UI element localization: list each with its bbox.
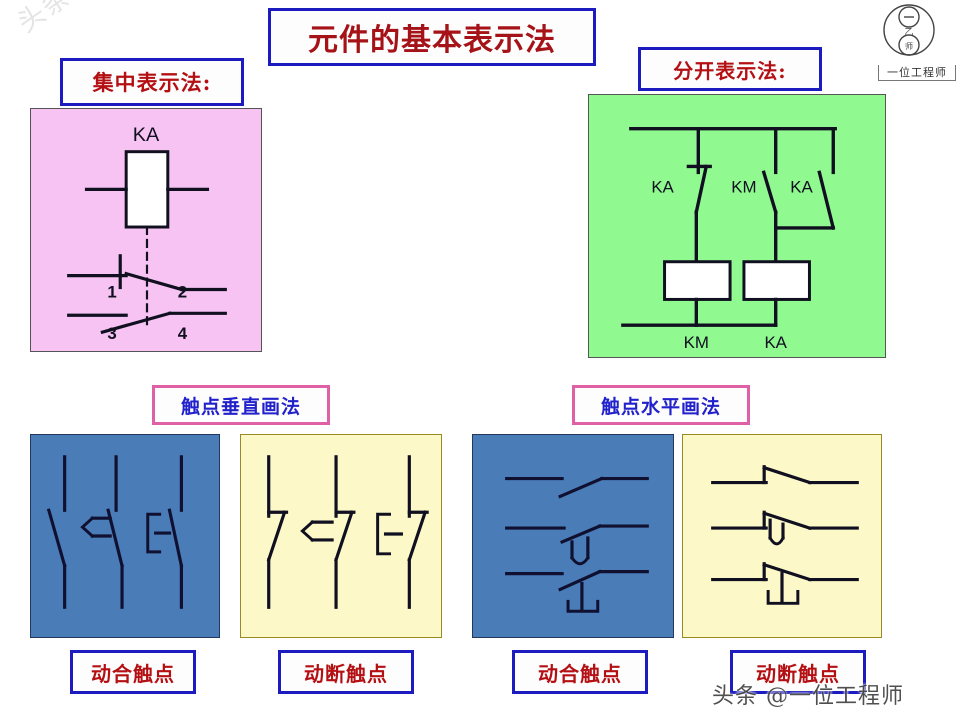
horizontal-no-contacts-panel bbox=[472, 434, 674, 638]
caption-nc-contact-horizontal: 动断触点 bbox=[730, 650, 866, 694]
vertical-no-contacts-svg bbox=[31, 435, 219, 637]
terminal-label-4: 4 bbox=[178, 324, 188, 343]
contact-label-ka-left: KA bbox=[651, 177, 674, 196]
vertical-nc-contacts-panel bbox=[240, 434, 442, 638]
separated-circuit-svg: KA KM KA KM KA bbox=[589, 95, 885, 357]
terminal-label-2: 2 bbox=[178, 282, 187, 301]
centralized-diagram-panel: KA 1 2 3 4 bbox=[30, 108, 262, 352]
brand-logo: 乙 师 一位工程师 bbox=[878, 2, 956, 80]
terminal-label-3: 3 bbox=[107, 324, 116, 343]
coil-label-ka: KA bbox=[764, 333, 787, 352]
vertical-no-contacts-panel bbox=[30, 434, 220, 638]
watermark-diagonal: 头条@一位工程师 bbox=[8, 0, 220, 40]
centralized-circuit-svg: KA 1 2 3 4 bbox=[31, 109, 261, 351]
horizontal-no-contacts-svg bbox=[473, 435, 673, 637]
svg-text:师: 师 bbox=[905, 41, 913, 51]
page-title: 元件的基本表示法 bbox=[268, 8, 596, 66]
caption-nc-contact-vertical: 动断触点 bbox=[278, 650, 414, 694]
label-horizontal-drawing-method: 触点水平画法 bbox=[572, 385, 750, 425]
separated-diagram-panel: KA KM KA KM KA bbox=[588, 94, 886, 358]
label-vertical-drawing-method: 触点垂直画法 bbox=[152, 385, 330, 425]
logo-text: 一位工程师 bbox=[878, 65, 956, 81]
label-separated-method: 分开表示法: bbox=[638, 47, 822, 91]
logo-mark-icon: 乙 师 bbox=[878, 2, 940, 60]
horizontal-nc-contacts-panel bbox=[682, 434, 882, 638]
coil-label-km: KM bbox=[684, 333, 709, 352]
label-centralized-method: 集中表示法: bbox=[60, 58, 244, 106]
horizontal-nc-contacts-svg bbox=[683, 435, 881, 637]
contact-label-ka-right: KA bbox=[790, 177, 813, 196]
vertical-nc-contacts-svg bbox=[241, 435, 441, 637]
svg-text:乙: 乙 bbox=[904, 27, 913, 38]
contact-label-km: KM bbox=[731, 177, 756, 196]
slide-canvas: 头条@一位工程师 元件的基本表示法 集中表示法: 分开表示法: bbox=[0, 0, 960, 720]
caption-no-contact-horizontal: 动合触点 bbox=[512, 650, 648, 694]
coil-label-ka: KA bbox=[133, 124, 160, 146]
terminal-label-1: 1 bbox=[107, 282, 116, 301]
caption-no-contact-vertical: 动合触点 bbox=[70, 650, 196, 694]
